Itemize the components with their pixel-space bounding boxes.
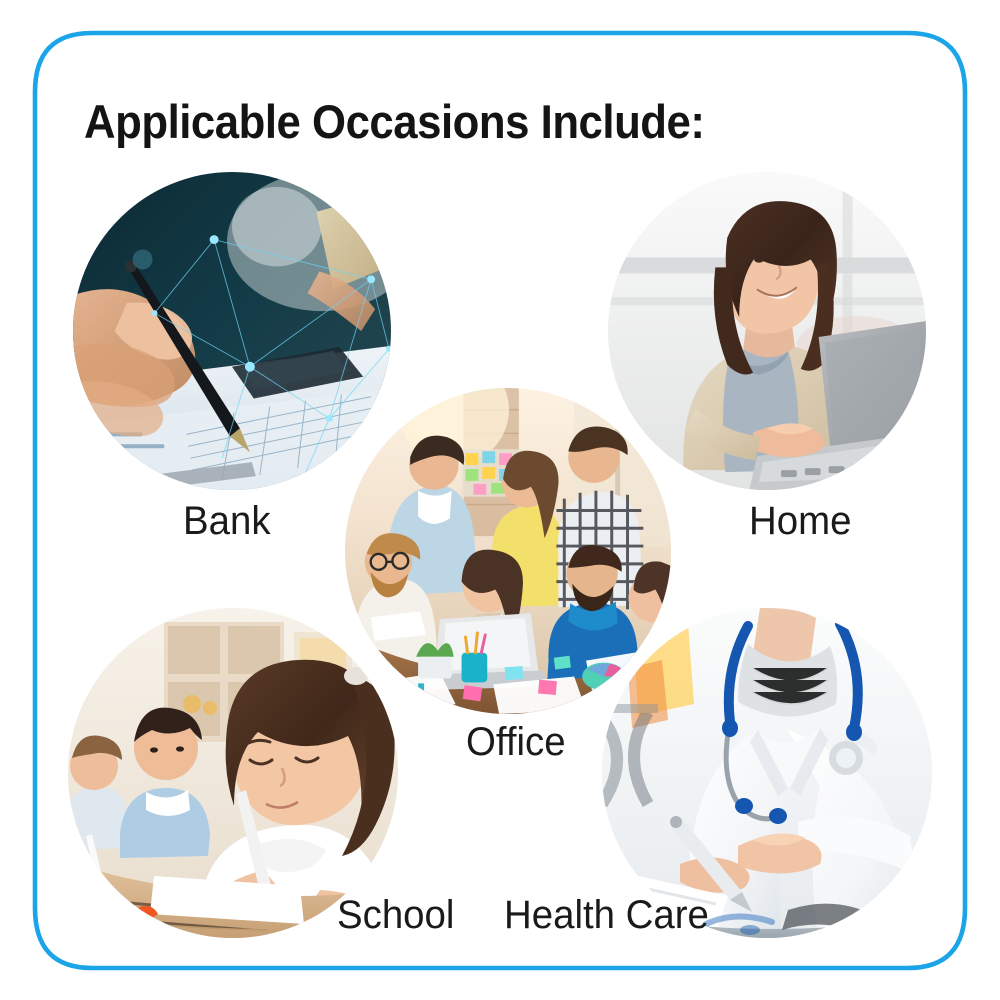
occasion-label-home: Home	[749, 499, 851, 543]
occasion-label-health-care: Health Care	[504, 893, 709, 937]
occasion-image-health	[602, 608, 932, 938]
page-title: Applicable Occasions Include:	[84, 96, 704, 148]
occasion-image-home	[608, 172, 926, 490]
occasion-label-office: Office	[466, 720, 566, 764]
occasion-label-school: School	[337, 893, 454, 937]
poster-canvas: Applicable Occasions Include:	[0, 0, 1000, 1000]
occasion-image-school	[68, 608, 398, 938]
occasion-image-bank	[73, 172, 391, 490]
occasion-image-office	[345, 388, 671, 714]
occasion-label-bank: Bank	[183, 499, 271, 543]
